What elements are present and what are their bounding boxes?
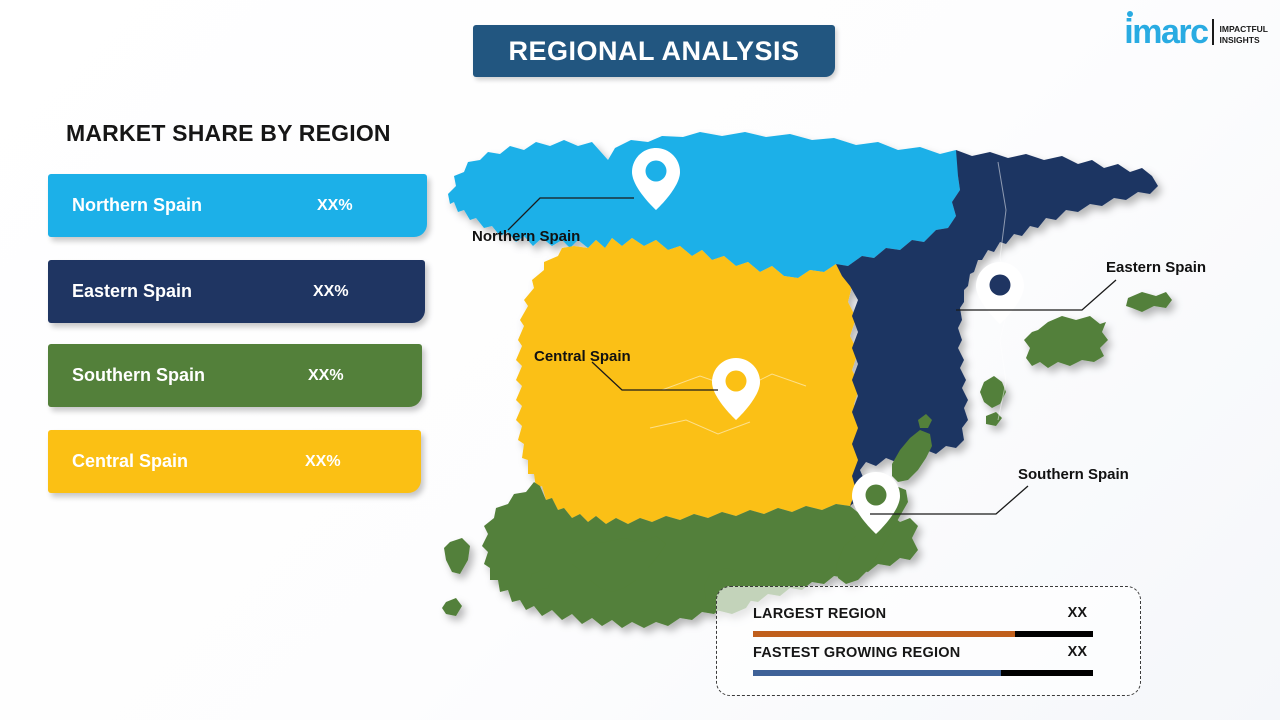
- region-value-eastern-spain: XX%: [313, 283, 405, 301]
- logo-wordmark-text: imarc: [1124, 13, 1207, 51]
- map-callout-northern-spain: Northern Spain: [472, 228, 580, 245]
- logo-tagline: IMPACTFUL INSIGHTS: [1220, 24, 1268, 45]
- map-island-la-palma: [444, 538, 470, 574]
- map-island-menorca: [1126, 292, 1172, 312]
- summary-value-fastest-growing-region: XX: [1068, 644, 1087, 660]
- eastern-pin: [976, 262, 1024, 324]
- map-island-el-hierro: [442, 598, 462, 616]
- map-region-central-spain: [516, 238, 866, 524]
- region-value-southern-spain: XX%: [308, 367, 400, 385]
- summary-track-largest-region: [753, 631, 1093, 637]
- map-island-ibiza: [980, 376, 1006, 408]
- summary-row-fastest-growing-region: FASTEST GROWING REGION XX: [753, 644, 1103, 662]
- summary-label-largest-region: LARGEST REGION: [753, 606, 886, 622]
- summary-fill-fastest-growing-region: [753, 670, 1001, 676]
- region-bar-eastern-spain[interactable]: Eastern Spain XX%: [48, 260, 425, 323]
- page-title-banner: REGIONAL ANALYSIS: [473, 25, 835, 77]
- slide-canvas: REGIONAL ANALYSIS imarc IMPACTFUL INSIGH…: [0, 0, 1280, 720]
- map-callout-central-spain: Central Spain: [534, 348, 631, 365]
- region-value-central-spain: XX%: [305, 453, 397, 471]
- summary-value-largest-region: XX: [1068, 605, 1087, 621]
- region-bar-central-spain[interactable]: Central Spain XX%: [48, 430, 421, 493]
- summary-fill-largest-region: [753, 631, 1015, 637]
- market-share-heading: MARKET SHARE BY REGION: [66, 120, 391, 147]
- map-callout-southern-spain: Southern Spain: [1018, 466, 1129, 483]
- summary-track-fastest-growing-region: [753, 670, 1093, 676]
- region-bar-northern-spain[interactable]: Northern Spain XX%: [48, 174, 427, 237]
- region-summary-box: LARGEST REGION XX FASTEST GROWING REGION…: [716, 586, 1141, 696]
- logo-tagline-line1: IMPACTFUL: [1220, 24, 1268, 35]
- map-callout-eastern-spain: Eastern Spain: [1106, 259, 1206, 276]
- logo-tagline-line2: INSIGHTS: [1220, 35, 1268, 46]
- region-label-eastern-spain: Eastern Spain: [72, 281, 192, 302]
- logo-divider: [1212, 19, 1214, 45]
- region-value-northern-spain: XX%: [317, 197, 409, 215]
- map-island-mallorca: [1024, 316, 1108, 368]
- region-label-northern-spain: Northern Spain: [72, 195, 202, 216]
- imarc-logo: imarc IMPACTFUL INSIGHTS: [1124, 16, 1268, 48]
- region-bar-southern-spain[interactable]: Southern Spain XX%: [48, 344, 422, 407]
- spain-map: [400, 90, 1200, 650]
- region-label-southern-spain: Southern Spain: [72, 365, 205, 386]
- logo-wordmark: imarc: [1124, 16, 1207, 48]
- page-title: REGIONAL ANALYSIS: [508, 36, 799, 67]
- summary-row-largest-region: LARGEST REGION XX: [753, 605, 1103, 623]
- summary-label-fastest-growing-region: FASTEST GROWING REGION: [753, 645, 960, 661]
- region-label-central-spain: Central Spain: [72, 451, 188, 472]
